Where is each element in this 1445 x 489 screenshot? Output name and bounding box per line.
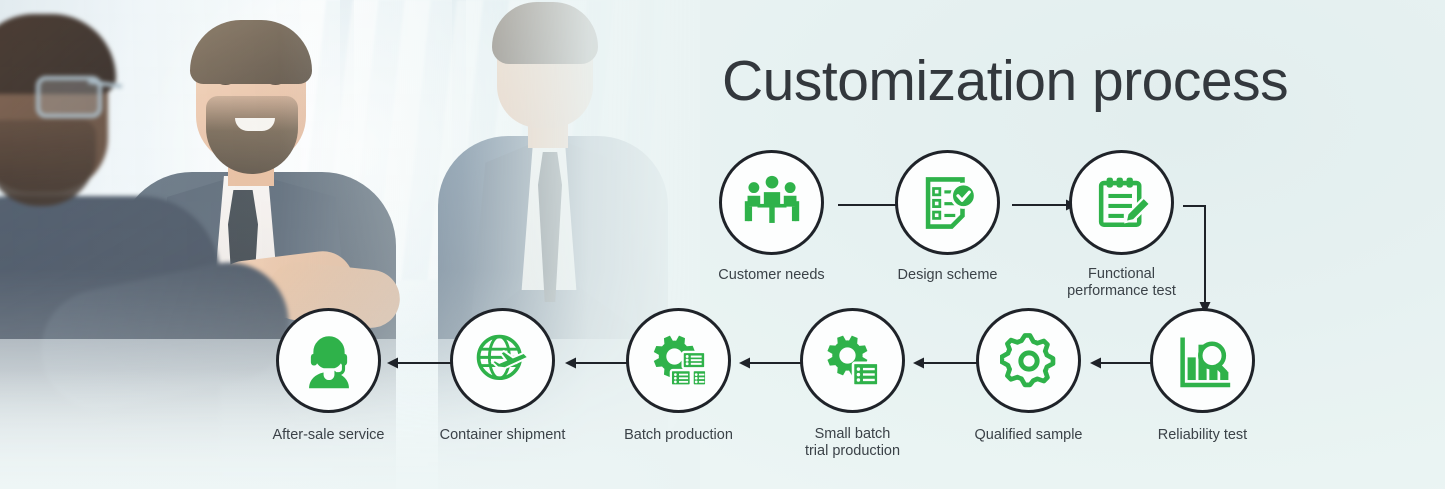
clipboard-pencil-icon [1093,174,1151,232]
flow-label-functional-performance-test: Functional performance test [1009,266,1234,300]
page-title: Customization process [722,48,1288,114]
flow-node-reliability-test[interactable] [1150,308,1255,413]
gear-list-icon [824,332,882,390]
connector-small-batch-trial-production-to-batch-production [738,356,808,370]
photo-right-fade [0,0,700,489]
flow-node-qualified-sample[interactable] [976,308,1081,413]
connector-qualified-sample-to-small-batch-trial-production [912,356,982,370]
flow-node-small-batch-trial-production[interactable] [800,308,905,413]
flow-node-batch-production[interactable] [626,308,731,413]
connector-functional-performance-test-to-reliability-test [1183,198,1223,318]
flow-node-container-shipment[interactable] [450,308,555,413]
connector-batch-production-to-container-shipment [564,356,634,370]
flow-node-customer-needs[interactable] [719,150,824,255]
connector-container-shipment-to-after-sale-service [386,356,458,370]
flow-node-design-scheme[interactable] [895,150,1000,255]
flow-label-reliability-test: Reliability test [1090,428,1315,443]
gear-icon [1000,332,1058,390]
checklist-approved-icon [919,174,977,232]
flow-node-functional-performance-test[interactable] [1069,150,1174,255]
headset-support-icon [300,332,358,390]
bar-chart-magnifier-icon [1174,332,1232,390]
flow-node-after-sale-service[interactable] [276,308,381,413]
globe-airplane-icon [474,332,532,390]
people-meeting-icon [743,174,801,232]
customization-process-banner: Customization process [0,0,1445,489]
business-handshake-photo [0,0,700,489]
gear-documents-icon [650,332,708,390]
